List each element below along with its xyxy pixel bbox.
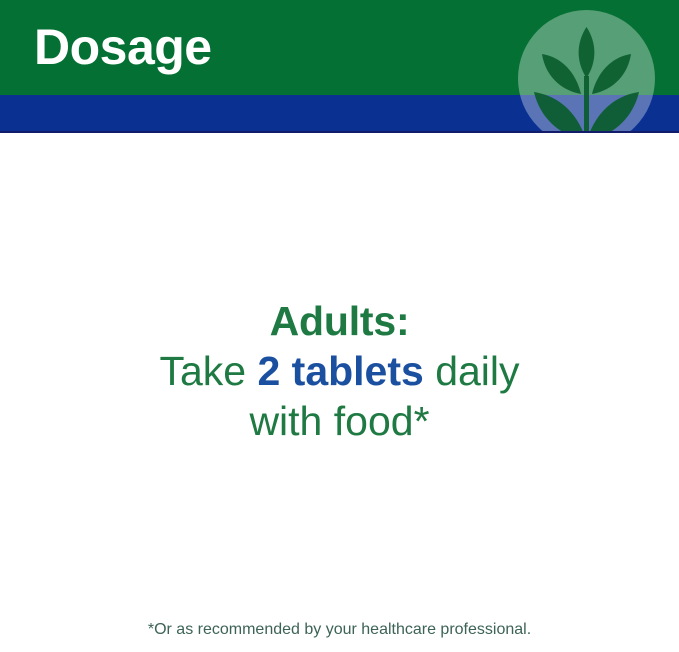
dosage-take-label: Take [159, 348, 257, 394]
header-bottom-rule [0, 131, 679, 133]
dosage-line-audience: Adults: [0, 296, 679, 346]
dosage-quantity: 2 tablets [257, 348, 423, 394]
page-title: Dosage [34, 16, 212, 78]
dosage-statement: Adults: Take 2 tablets daily with food* [0, 296, 679, 446]
dosage-panel: Dosage Adults: Take 2 tablets daily with… [0, 0, 679, 652]
dosage-with-food-label: with food [249, 398, 413, 444]
dosage-frequency: daily [424, 348, 520, 394]
footnote-text: *Or as recommended by your healthcare pr… [0, 619, 679, 641]
header-banner: Dosage [0, 0, 679, 133]
dosage-line-instruction: Take 2 tablets daily [0, 346, 679, 396]
leaf-plant-circle-icon [518, 10, 655, 133]
dosage-line-with-food: with food* [0, 396, 679, 446]
footnote-asterisk-marker: * [414, 398, 430, 444]
